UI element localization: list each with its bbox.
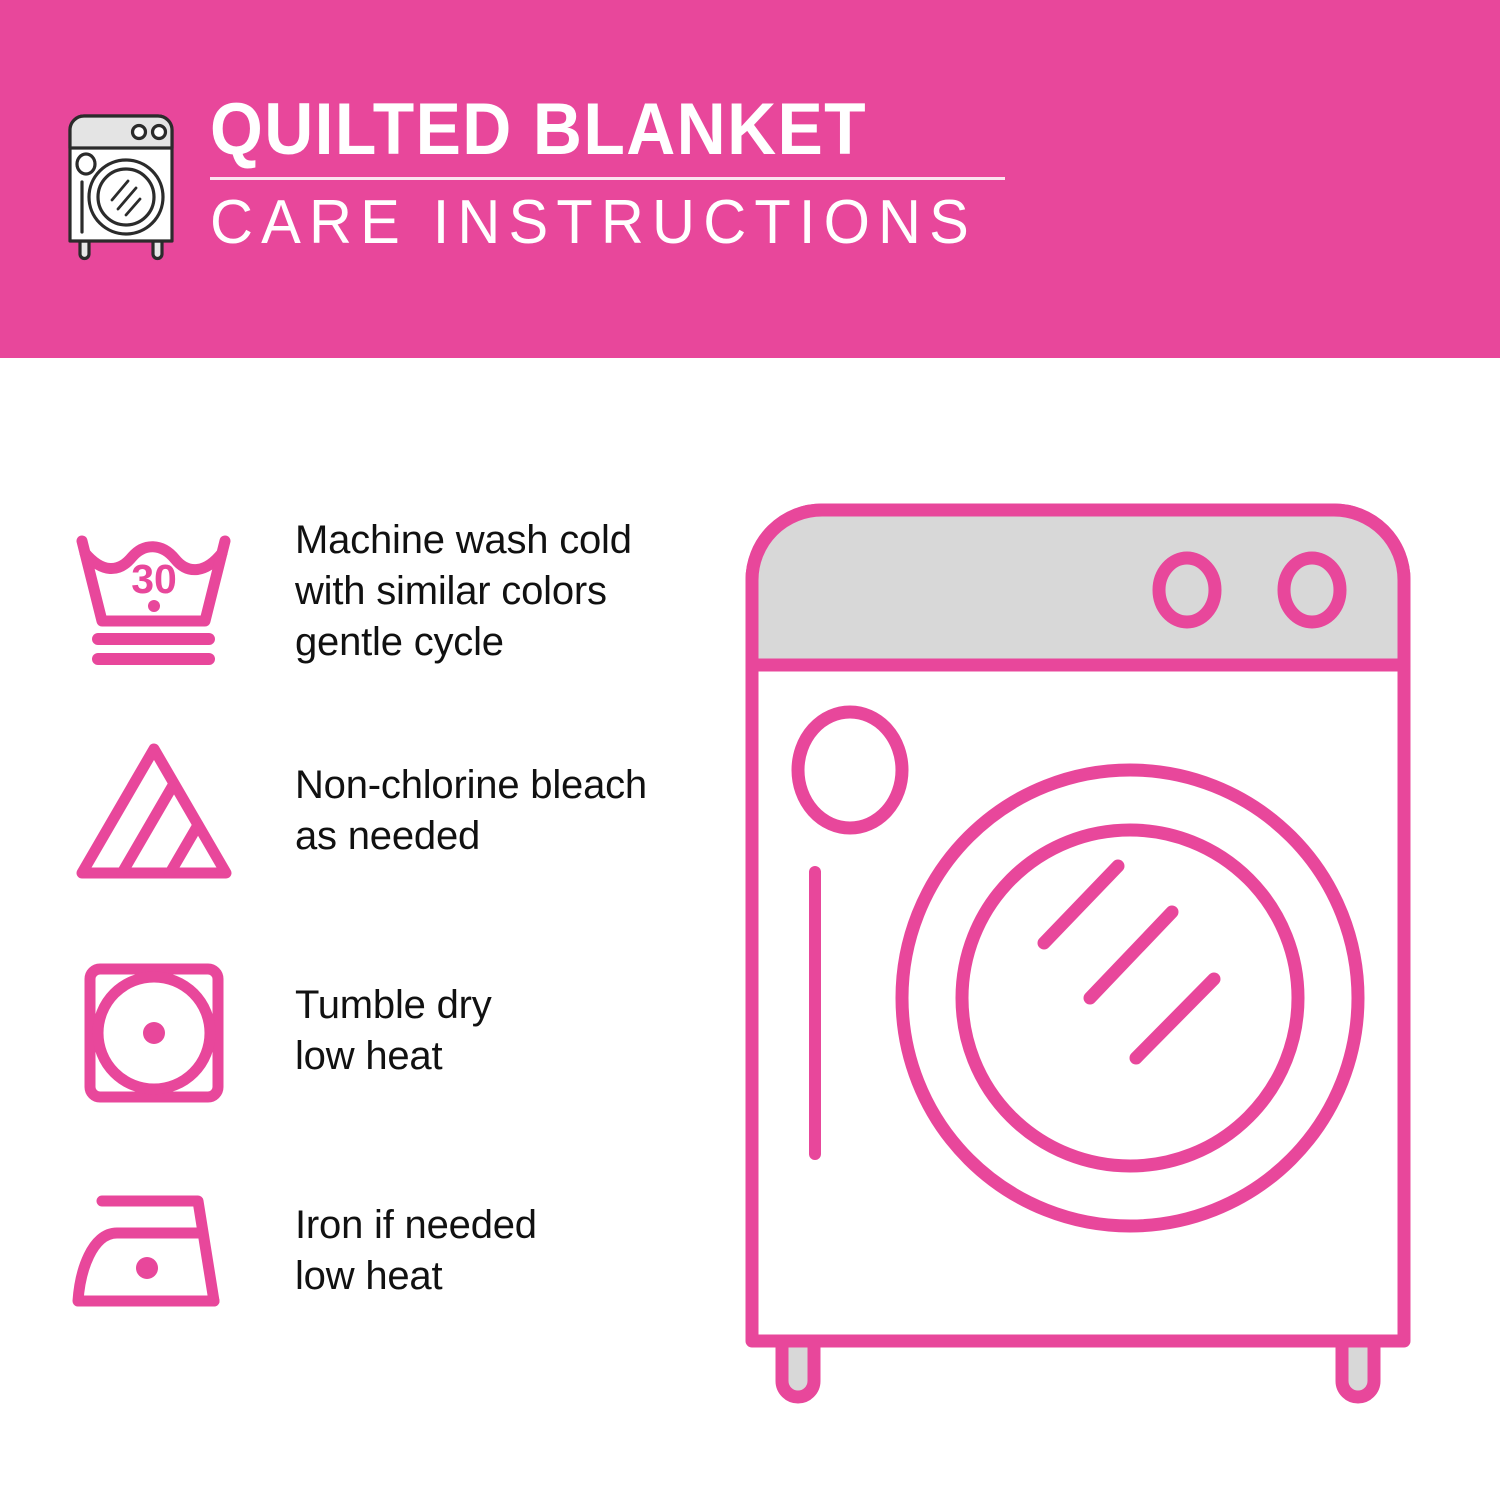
care-instruction-list: 30 Machine wash cold with similar colors… bbox=[62, 505, 702, 1337]
tumble-dry-low-icon bbox=[62, 951, 247, 1111]
washing-machine-illustration bbox=[740, 498, 1440, 1428]
header-band: QUILTED BLANKET CARE INSTRUCTIONS bbox=[0, 0, 1500, 358]
washing-machine-icon bbox=[60, 108, 182, 263]
care-label: Iron if needed low heat bbox=[295, 1200, 537, 1302]
title-divider bbox=[210, 177, 1005, 180]
care-row: Tumble dry low heat bbox=[62, 945, 702, 1117]
header-content: QUILTED BLANKET CARE INSTRUCTIONS bbox=[60, 96, 1060, 276]
care-label: Tumble dry low heat bbox=[295, 980, 492, 1082]
care-row: Iron if needed low heat bbox=[62, 1165, 702, 1337]
washer-dispenser bbox=[798, 712, 902, 828]
wash-temperature-value: 30 bbox=[131, 556, 177, 602]
care-instructions-poster: QUILTED BLANKET CARE INSTRUCTIONS bbox=[0, 0, 1500, 1500]
header-text-block: QUILTED BLANKET CARE INSTRUCTIONS bbox=[210, 90, 1060, 257]
iron-low-heat-icon bbox=[62, 1171, 247, 1331]
washer-knob-1 bbox=[1159, 558, 1215, 622]
washer-knob-2 bbox=[1284, 558, 1340, 622]
care-label: Non-chlorine bleach as needed bbox=[295, 760, 647, 862]
care-row: 30 Machine wash cold with similar colors… bbox=[62, 505, 702, 677]
non-chlorine-bleach-triangle-icon bbox=[62, 731, 247, 891]
page-subtitle: CARE INSTRUCTIONS bbox=[210, 189, 1026, 257]
page-title: QUILTED BLANKET bbox=[210, 90, 1001, 170]
washer-door-inner-ring bbox=[962, 830, 1298, 1166]
care-label: Machine wash cold with similar colors ge… bbox=[295, 515, 632, 668]
wash-tub-30-icon: 30 bbox=[62, 511, 247, 671]
care-row: Non-chlorine bleach as needed bbox=[62, 725, 702, 897]
